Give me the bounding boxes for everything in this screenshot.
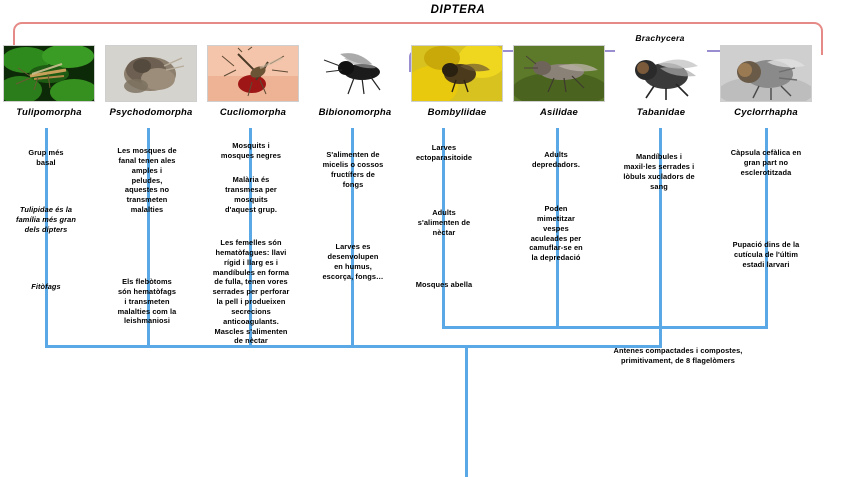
note-bombyliidae-3: Mosques abella	[398, 280, 490, 290]
fungus-gnat-photo	[309, 45, 401, 102]
brachycera-clade-bar	[442, 326, 768, 329]
note-psychodomorpha-1: Les mosques de fanal tenen ales amples i…	[104, 146, 190, 215]
note-asilidae-1: Adults depredadors.	[512, 150, 600, 170]
taxon-column-tabanidae: Tabanidae	[612, 45, 710, 118]
taxon-name-cucliomorpha: Cucliomorpha	[204, 107, 302, 118]
taxon-column-asilidae: Asilidae	[510, 45, 608, 118]
note-cyclorrhapha-2: Pupació dins de la cutícula de l'últim e…	[712, 240, 820, 270]
robber-fly-photo	[513, 45, 605, 102]
taxon-name-bibionomorpha: Bibionomorpha	[306, 107, 404, 118]
taxon-column-cyclorrhapha: Cyclorrhapha	[717, 45, 815, 118]
taxon-column-bibionomorpha: Bibionomorpha	[306, 45, 404, 118]
note-cucliomorpha-2: Malària és transmesa per mosquits d'aque…	[206, 175, 296, 214]
phylogeny-diagram: DIPTERA Brachycera	[0, 0, 848, 477]
note-tulipomorpha-2: Tulipidae és la família més gran dels dí…	[2, 205, 90, 235]
note-bombyliidae-2: Adults s'alimenten de nèctar	[400, 208, 488, 238]
taxon-name-psychodomorpha: Psychodomorpha	[102, 107, 200, 118]
diagram-title: DIPTERA	[398, 4, 518, 16]
bristly-fly-photo	[720, 45, 812, 102]
note-psychodomorpha-2: Els flebòtoms són hematòfags i transmete…	[104, 277, 190, 326]
note-bombyliidae-1: Larves ectoparasitoide	[400, 143, 488, 163]
note-bibionomorpha-2: Larves es desenvolupen en humus, escorça…	[306, 242, 400, 281]
taxon-name-cyclorrhapha: Cyclorrhapha	[717, 107, 815, 118]
note-tabanidae-1: Mandíbules i maxil·les serrades i lòbuls…	[604, 152, 714, 191]
note-tulipomorpha-3: Fitòfags	[8, 282, 84, 292]
taxon-column-tulipomorpha: Tulipomorpha	[0, 45, 98, 118]
root-stem	[465, 345, 468, 477]
taxon-name-tulipomorpha: Tulipomorpha	[0, 107, 98, 118]
diptera-backbone	[45, 345, 662, 348]
mosquito-feeding-photo	[207, 45, 299, 102]
note-asilidae-2: Poden mimetitzar vespes aculeades per ca…	[510, 204, 602, 263]
house-fly-photo	[615, 45, 707, 102]
taxon-column-psychodomorpha: Psychodomorpha	[102, 45, 200, 118]
note-cucliomorpha-3: Les femelles són hematòfagues: llavi ríg…	[200, 238, 302, 346]
crane-fly-photo	[3, 45, 95, 102]
note-cyclorrhapha-1: Càpsula cefàlica en gran part no esclero…	[710, 148, 822, 178]
taxon-column-bombyliidae: Bombyliidae	[408, 45, 506, 118]
taxon-name-bombyliidae: Bombyliidae	[408, 107, 506, 118]
note-tulipomorpha-1: Grup més basal	[6, 148, 86, 168]
moth-fly-photo	[105, 45, 197, 102]
taxon-column-cucliomorpha: Cucliomorpha	[204, 45, 302, 118]
note-brachycera-synapomorphy: Antenes compactades i compostes, primiti…	[578, 346, 778, 366]
bee-fly-on-flower-photo	[411, 45, 503, 102]
taxon-name-asilidae: Asilidae	[510, 107, 608, 118]
taxon-name-tabanidae: Tabanidae	[612, 107, 710, 118]
note-cucliomorpha-1: Mosquits i mosques negres	[206, 141, 296, 161]
note-bibionomorpha-1: S'alimenten de micelis o cossos fructífe…	[308, 150, 398, 189]
brachycera-label: Brachycera	[600, 33, 720, 43]
